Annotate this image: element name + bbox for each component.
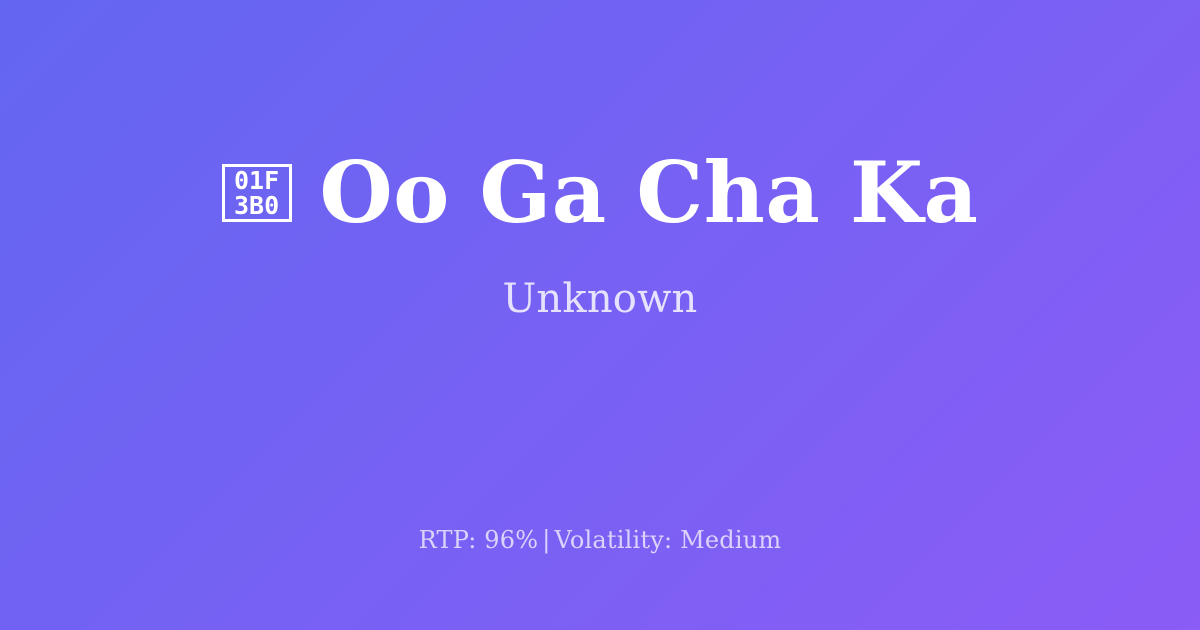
game-title: Oo Ga Cha Ka bbox=[320, 151, 979, 235]
volatility-value: Volatility: Medium bbox=[555, 526, 782, 554]
codepoint-top: 01F bbox=[234, 168, 279, 193]
stats-separator: | bbox=[538, 526, 554, 554]
game-preview-card: 01F 3B0 Oo Ga Cha Ka Unknown RTP: 96%|Vo… bbox=[0, 0, 1200, 630]
game-stats: RTP: 96%|Volatility: Medium bbox=[0, 528, 1200, 552]
codepoint-bottom: 3B0 bbox=[234, 193, 279, 218]
slot-machine-icon: 01F 3B0 bbox=[222, 164, 292, 222]
rtp-value: RTP: 96% bbox=[419, 526, 539, 554]
game-provider: Unknown bbox=[503, 279, 698, 319]
title-row: 01F 3B0 Oo Ga Cha Ka bbox=[222, 151, 979, 235]
hero-section: 01F 3B0 Oo Ga Cha Ka Unknown bbox=[0, 0, 1200, 470]
